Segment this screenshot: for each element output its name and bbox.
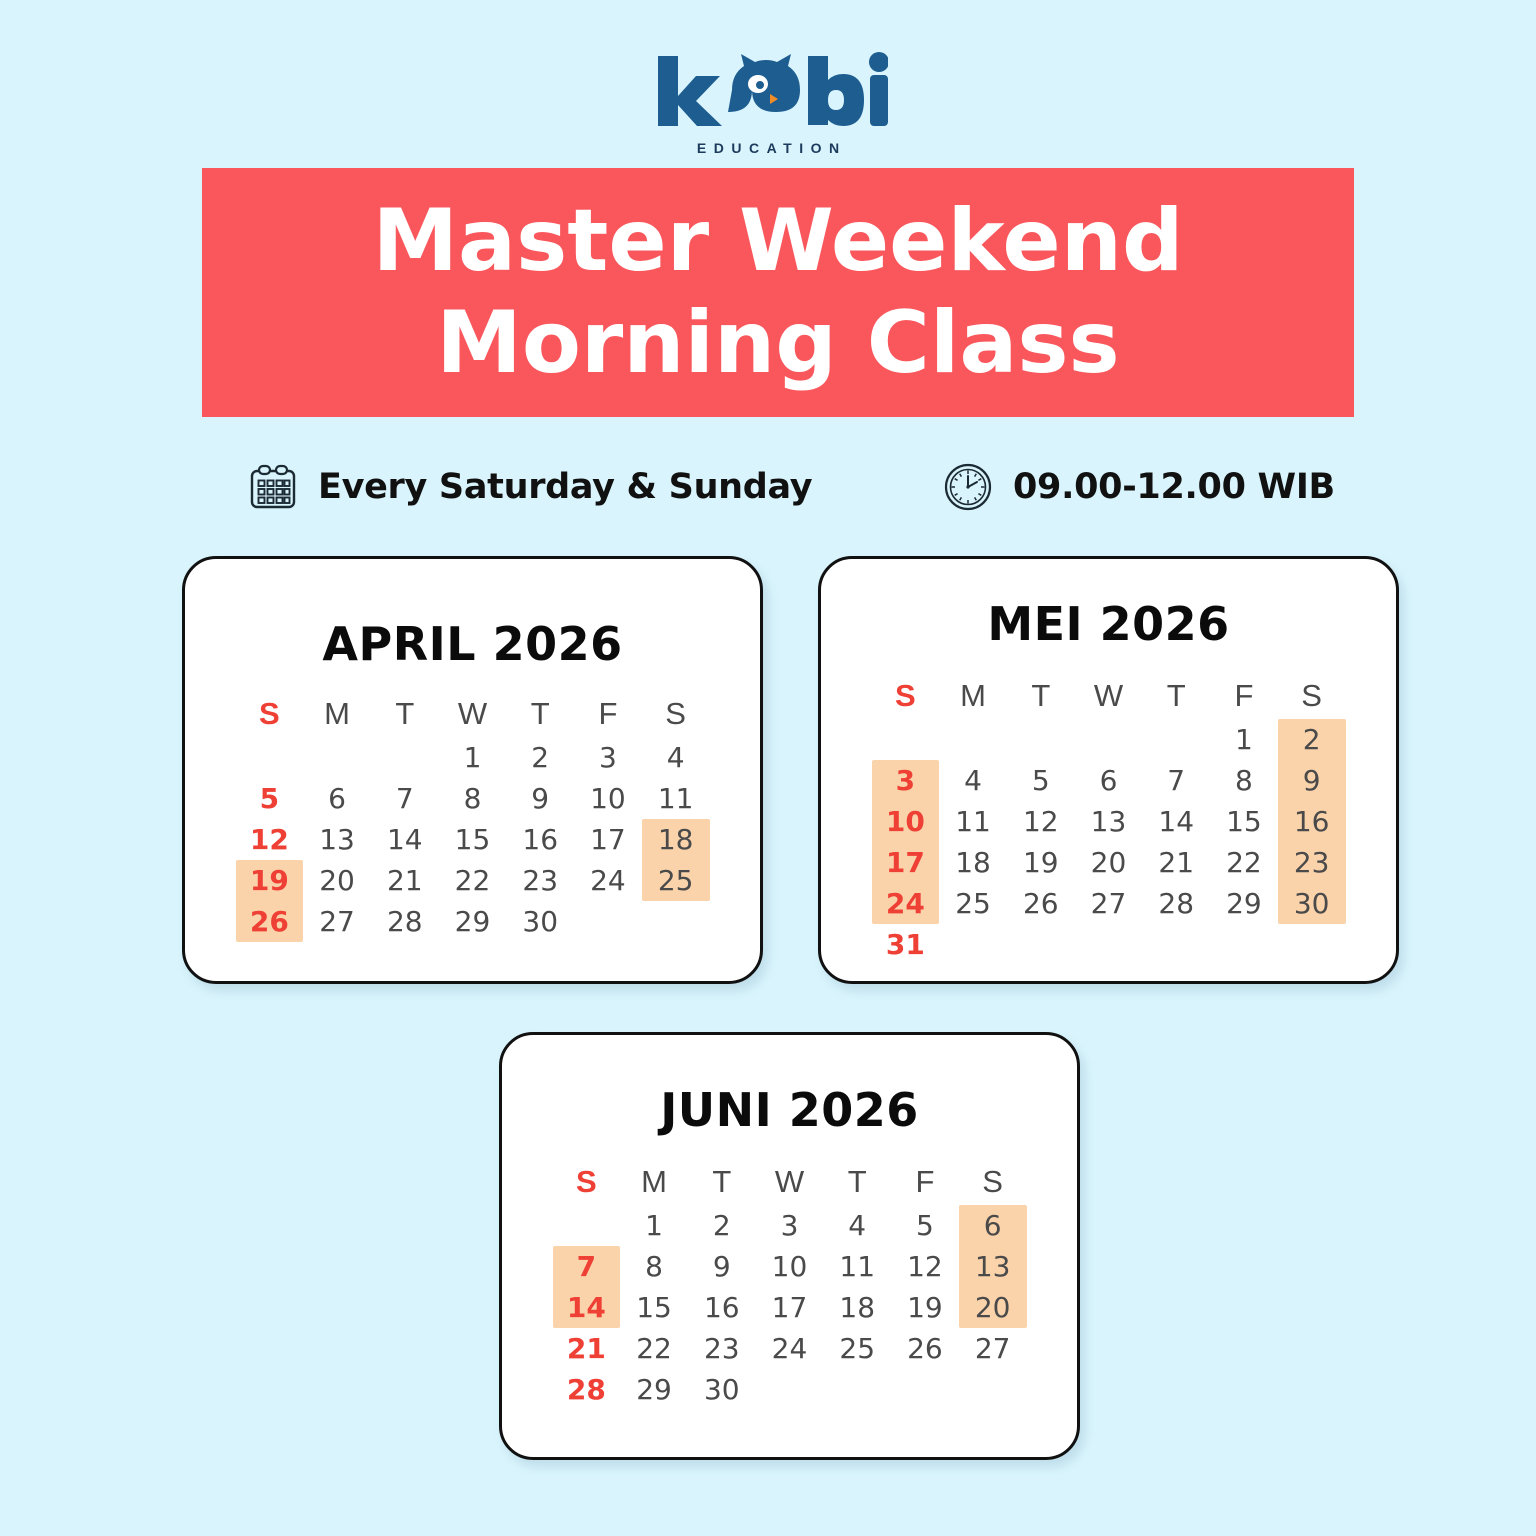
calendar-card-april: APRIL 2026 SMTWTFS1234567891011121314151… [182, 556, 763, 984]
calendar-day[interactable]: 8 [1210, 760, 1278, 801]
calendar-day[interactable]: 21 [553, 1328, 621, 1369]
weekday-header: S [236, 691, 304, 737]
calendar-day-empty [823, 1369, 891, 1410]
banner-line-2: Morning Class [436, 293, 1120, 394]
calendar-day[interactable]: 27 [959, 1328, 1027, 1369]
weekday-header: W [1075, 673, 1143, 719]
calendar-title: APRIL 2026 [185, 617, 760, 671]
calendar-day-empty [939, 719, 1007, 760]
calendar-day-highlighted[interactable]: 16 [1278, 801, 1346, 842]
calendar-day-empty [872, 719, 940, 760]
calendar-day[interactable]: 11 [823, 1246, 891, 1287]
calendar-day-empty [371, 737, 439, 778]
calendar-day-highlighted[interactable]: 23 [1278, 842, 1346, 883]
calendar-day-empty [1075, 719, 1143, 760]
calendar-day[interactable]: 8 [620, 1246, 688, 1287]
calendar-day[interactable]: 25 [939, 883, 1007, 924]
schedule-text: Every Saturday & Sunday [318, 467, 812, 507]
weekday-header: F [891, 1159, 959, 1205]
calendar-card-mei: MEI 2026 SMTWTFS123456789101112131415161… [818, 556, 1399, 984]
calendar-day-empty [959, 1369, 1027, 1410]
calendar-day[interactable]: 12 [891, 1246, 959, 1287]
calendar-title: MEI 2026 [821, 597, 1396, 651]
calendar-day-empty [553, 1205, 621, 1246]
calendar-day[interactable]: 20 [303, 860, 371, 901]
calendar-day-empty [939, 924, 1007, 965]
calendar-day[interactable]: 7 [371, 778, 439, 819]
calendar-day[interactable]: 13 [303, 819, 371, 860]
weekday-header: F [574, 691, 642, 737]
weekday-header: S [553, 1159, 621, 1205]
calendar-day[interactable]: 3 [574, 737, 642, 778]
calendar-day[interactable]: 11 [642, 778, 710, 819]
calendar-day[interactable]: 3 [756, 1205, 824, 1246]
calendar-day[interactable]: 11 [939, 801, 1007, 842]
time-info: 09.00-12.00 WIB [943, 462, 1335, 512]
calendar-day-highlighted[interactable]: 3 [872, 760, 940, 801]
calendar-day-empty [1142, 924, 1210, 965]
calendar-day[interactable]: 9 [688, 1246, 756, 1287]
calendar-day[interactable]: 24 [756, 1328, 824, 1369]
calendar-day[interactable]: 4 [939, 760, 1007, 801]
calendar-day[interactable]: 13 [1075, 801, 1143, 842]
calendar-day[interactable]: 18 [823, 1287, 891, 1328]
calendar-day[interactable]: 9 [506, 778, 574, 819]
time-text: 09.00-12.00 WIB [1013, 467, 1335, 507]
calendar-day[interactable]: 21 [371, 860, 439, 901]
brand-subtitle: EDUCATION [0, 140, 1536, 156]
calendar-title: JUNI 2026 [502, 1083, 1077, 1137]
calendar-day-highlighted[interactable]: 17 [872, 842, 940, 883]
calendar-day[interactable]: 26 [891, 1328, 959, 1369]
schedule-info: Every Saturday & Sunday [248, 462, 812, 512]
calendar-day[interactable]: 4 [642, 737, 710, 778]
calendar-icon [248, 462, 298, 512]
weekday-header: T [823, 1159, 891, 1205]
calendar-day[interactable]: 21 [1142, 842, 1210, 883]
title-banner: Master Weekend Morning Class [202, 168, 1354, 417]
calendar-day[interactable]: 17 [574, 819, 642, 860]
weekday-header: S [642, 691, 710, 737]
calendar-day[interactable]: 29 [620, 1369, 688, 1410]
weekday-header: S [1278, 673, 1346, 719]
calendar-day-empty [1142, 719, 1210, 760]
weekday-header: W [439, 691, 507, 737]
calendar-grid: SMTWTFS123456789101112131415161718192021… [872, 673, 1346, 965]
calendar-day-highlighted[interactable]: 30 [1278, 883, 1346, 924]
banner-line-1: Master Weekend [372, 191, 1183, 292]
calendar-day[interactable]: 2 [506, 737, 574, 778]
calendar-day[interactable]: 18 [939, 842, 1007, 883]
weekday-header: W [756, 1159, 824, 1205]
weekday-header: T [1142, 673, 1210, 719]
clock-icon [943, 462, 993, 512]
calendar-day[interactable]: 29 [1210, 883, 1278, 924]
calendar-day-empty [1007, 924, 1075, 965]
calendar-day-highlighted[interactable]: 7 [553, 1246, 621, 1287]
kobi-owl-logo-icon [648, 52, 888, 126]
calendar-day[interactable]: 4 [823, 1205, 891, 1246]
calendar-day-highlighted[interactable]: 10 [872, 801, 940, 842]
weekday-header: T [371, 691, 439, 737]
calendar-day[interactable]: 29 [439, 901, 507, 942]
calendar-day[interactable]: 28 [1142, 883, 1210, 924]
calendar-day[interactable]: 24 [574, 860, 642, 901]
weekday-header: S [959, 1159, 1027, 1205]
calendar-card-juni: JUNI 2026 SMTWTFS12345678910111213141516… [499, 1032, 1080, 1460]
calendar-day-highlighted[interactable]: 13 [959, 1246, 1027, 1287]
info-row: Every Saturday & Sunday [0, 462, 1536, 528]
calendar-day[interactable]: 30 [688, 1369, 756, 1410]
weekday-header: M [939, 673, 1007, 719]
weekday-header: F [1210, 673, 1278, 719]
calendar-day-empty [303, 737, 371, 778]
calendar-day[interactable]: 5 [236, 778, 304, 819]
calendar-day[interactable]: 19 [891, 1287, 959, 1328]
calendar-day-empty [574, 901, 642, 942]
brand-wordmark [648, 52, 888, 126]
calendar-day-highlighted[interactable]: 18 [642, 819, 710, 860]
calendar-grid: SMTWTFS123456789101112131415161718192021… [553, 1159, 1027, 1410]
calendar-day[interactable]: 1 [620, 1205, 688, 1246]
calendar-day[interactable]: 8 [439, 778, 507, 819]
calendar-day-highlighted[interactable]: 9 [1278, 760, 1346, 801]
calendar-day[interactable]: 25 [823, 1328, 891, 1369]
weekday-header: T [688, 1159, 756, 1205]
weekday-header: T [1007, 673, 1075, 719]
calendar-day-empty [1075, 924, 1143, 965]
calendar-day[interactable]: 12 [1007, 801, 1075, 842]
calendar-day[interactable]: 28 [553, 1369, 621, 1410]
calendar-day[interactable]: 20 [1075, 842, 1143, 883]
calendar-day[interactable]: 10 [574, 778, 642, 819]
calendar-day[interactable]: 27 [1075, 883, 1143, 924]
calendar-day-empty [236, 737, 304, 778]
weekday-header: S [872, 673, 940, 719]
calendar-day[interactable]: 22 [439, 860, 507, 901]
calendar-day[interactable]: 28 [371, 901, 439, 942]
calendar-day-empty [1210, 924, 1278, 965]
calendar-day[interactable]: 12 [236, 819, 304, 860]
calendar-day[interactable]: 10 [756, 1246, 824, 1287]
calendar-day-empty [1007, 719, 1075, 760]
calendar-day-highlighted[interactable]: 14 [553, 1287, 621, 1328]
calendar-day[interactable]: 5 [1007, 760, 1075, 801]
calendar-day-highlighted[interactable]: 24 [872, 883, 940, 924]
calendar-day[interactable]: 31 [872, 924, 940, 965]
calendar-day[interactable]: 16 [688, 1287, 756, 1328]
calendar-day[interactable]: 14 [371, 819, 439, 860]
calendar-day[interactable]: 7 [1142, 760, 1210, 801]
calendar-day[interactable]: 23 [688, 1328, 756, 1369]
calendar-day-highlighted[interactable]: 19 [236, 860, 304, 901]
calendar-day[interactable]: 5 [891, 1205, 959, 1246]
weekday-header: T [506, 691, 574, 737]
calendar-day[interactable]: 22 [620, 1328, 688, 1369]
calendar-day[interactable]: 19 [1007, 842, 1075, 883]
calendar-day-empty [642, 901, 710, 942]
calendar-day[interactable]: 15 [620, 1287, 688, 1328]
calendar-day-highlighted[interactable]: 25 [642, 860, 710, 901]
calendar-day[interactable]: 2 [688, 1205, 756, 1246]
weekday-header: M [303, 691, 371, 737]
calendar-day[interactable]: 14 [1142, 801, 1210, 842]
calendar-day[interactable]: 15 [1210, 801, 1278, 842]
calendar-grid: SMTWTFS123456789101112131415161718192021… [236, 691, 710, 942]
calendar-day[interactable]: 27 [303, 901, 371, 942]
calendar-day-highlighted[interactable]: 26 [236, 901, 304, 942]
calendar-day[interactable]: 6 [303, 778, 371, 819]
calendar-day[interactable]: 30 [506, 901, 574, 942]
calendar-day[interactable]: 23 [506, 860, 574, 901]
calendar-day[interactable]: 15 [439, 819, 507, 860]
calendar-day[interactable]: 6 [1075, 760, 1143, 801]
calendar-day-highlighted[interactable]: 20 [959, 1287, 1027, 1328]
calendar-day-empty [891, 1369, 959, 1410]
brand-logo: EDUCATION [0, 52, 1536, 156]
calendar-day[interactable]: 22 [1210, 842, 1278, 883]
calendar-day[interactable]: 16 [506, 819, 574, 860]
calendar-day[interactable]: 1 [439, 737, 507, 778]
poster-canvas: EDUCATION Master Weekend Morning Class [0, 0, 1536, 1536]
calendar-day-empty [1278, 924, 1346, 965]
calendar-day-highlighted[interactable]: 6 [959, 1205, 1027, 1246]
calendar-day[interactable]: 17 [756, 1287, 824, 1328]
calendar-day-highlighted[interactable]: 2 [1278, 719, 1346, 760]
calendar-day-empty [756, 1369, 824, 1410]
weekday-header: M [620, 1159, 688, 1205]
calendar-day[interactable]: 26 [1007, 883, 1075, 924]
calendar-day[interactable]: 1 [1210, 719, 1278, 760]
